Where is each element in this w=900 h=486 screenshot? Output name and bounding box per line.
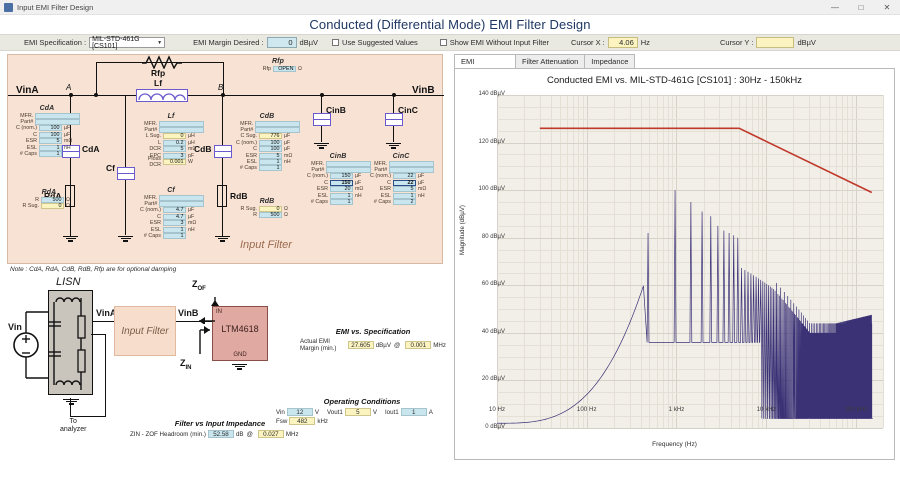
param-unit: mΩ [62, 138, 72, 144]
param-name: ESR [366, 186, 393, 192]
param-row: ESR5mΩ [12, 138, 82, 144]
tab-filter-attenuation[interactable]: Filter Attenuation [515, 54, 585, 68]
lisn-internals [48, 290, 93, 395]
right-panel: EMIFilter AttenuationImpedance Conducted… [450, 51, 900, 486]
param-name: ESL [303, 193, 330, 199]
param-value-input[interactable]: 5 [163, 146, 186, 152]
y-axis-tick: 120 dBµV [445, 139, 505, 145]
param-row: Part# [136, 127, 206, 133]
param-value-input[interactable]: 20 [330, 186, 353, 192]
emi-margin-row: Actual EMI Margin (min.) 27.605 dBµV @ 0… [300, 338, 446, 352]
param-value-input[interactable]: 1 [39, 145, 62, 151]
param-row: # Caps2 [366, 199, 436, 205]
rfp-rows: RfpOPENΩ [246, 66, 310, 72]
wire-cinb-bottom [321, 126, 322, 142]
param-value-input[interactable]: 500 [41, 197, 64, 203]
param-value-input[interactable] [326, 167, 371, 173]
cdb-table-title: CdB [232, 113, 302, 120]
rfp-table-title: Rfp [246, 58, 310, 65]
param-value-input[interactable]: 5 [39, 138, 62, 144]
param-name: R Sug. [232, 206, 259, 212]
param-name: ESR [303, 186, 330, 192]
param-row: ESR3mΩ [136, 220, 206, 226]
param-name: # Caps [136, 233, 163, 239]
param-name: ESL [232, 159, 259, 165]
lf-label: Lf [154, 78, 162, 88]
param-name: Ploss DCR [136, 156, 163, 168]
param-unit: Ω [282, 212, 288, 218]
vin-field-label: Vin [276, 409, 285, 416]
param-value-input[interactable]: 0.2 [163, 140, 186, 146]
emi-spec-label: EMI Specification : [24, 38, 86, 47]
param-value-input[interactable]: 22 [393, 180, 416, 186]
tab-emi[interactable]: EMI [454, 54, 516, 68]
param-name: # Caps [12, 151, 39, 157]
toolbar: EMI Specification : MIL-STD-461G [CS101]… [0, 34, 900, 51]
cf-capacitor-symbol [117, 167, 135, 180]
cdb-param-table[interactable]: CdB MFR.Part#C Sug.776µFC (nom.)100µFC10… [232, 113, 302, 172]
param-unit: µF [62, 125, 70, 131]
y-axis-tick: 80 dBµV [445, 234, 505, 240]
cinb-rows: MFR.Part#C (nom.)150µFC150µFESR20mΩESL1n… [303, 161, 373, 206]
param-name: L [136, 140, 163, 146]
param-value-input[interactable]: 1 [259, 165, 282, 171]
param-row: MFR. [12, 113, 82, 119]
param-value-input[interactable]: 3 [163, 220, 186, 226]
param-row: Part# [366, 167, 436, 173]
rfp-label: Rfp [151, 68, 165, 78]
cda-symbol-label: CdA [82, 144, 99, 154]
node-dot [94, 93, 98, 97]
param-value-input[interactable]: 0 [163, 133, 186, 139]
param-row: R500Ω [232, 212, 302, 218]
rda-param-table[interactable]: RdA R500ΩR Sug.0Ω [14, 189, 84, 209]
param-row: ESR5mΩ [232, 152, 302, 158]
param-value-input[interactable] [159, 121, 204, 127]
param-row: Part# [12, 119, 82, 125]
param-value-input[interactable] [326, 161, 371, 167]
cda-table-title: CdA [12, 105, 82, 112]
window-titlebar: Input EMI Filter Design — □ ✕ [0, 0, 900, 15]
y-axis-tick: 20 dBµV [445, 376, 505, 382]
wire-cdb-vertical [222, 95, 223, 179]
emi-margin-input[interactable]: 0 [267, 37, 297, 48]
zin-arrow-icon [190, 322, 212, 356]
ltm4618-ic-block[interactable]: IN LTM4618 GND [212, 306, 268, 361]
emi-margin-unit: dBµV [300, 38, 319, 47]
param-name: Part# [232, 127, 255, 133]
ground-symbol [386, 142, 401, 150]
param-value-input[interactable]: 776 [259, 133, 282, 139]
param-value-input[interactable]: 100 [259, 140, 282, 146]
x-axis-tick: 10 kHz [757, 406, 776, 413]
param-unit: µF [282, 133, 290, 139]
ic-part-label: LTM4618 [213, 324, 267, 334]
y-axis-tick: 60 dBµV [445, 281, 505, 287]
param-name: ESL [136, 227, 163, 233]
page-title: Conducted (Differential Mode) EMI Filter… [309, 17, 590, 32]
param-value-input[interactable]: 4.7 [163, 207, 186, 213]
gridline-v [883, 95, 884, 428]
param-name: L Sug. [136, 133, 163, 139]
iout-field-unit: A [429, 409, 433, 416]
chart-series-layer [497, 95, 883, 428]
wire-analyzer-vertical [105, 334, 106, 416]
param-value-input[interactable]: 22 [393, 173, 416, 179]
ground-symbol [215, 235, 230, 243]
param-value-input[interactable]: 500 [259, 212, 282, 218]
param-name: MFR. [12, 113, 35, 119]
cursor-x-input[interactable]: 4.06 [608, 37, 638, 48]
lf-inductor-symbol [136, 89, 188, 102]
param-unit: Ω [296, 66, 302, 72]
damping-note: Note : CdA, RdA, CdB, RdB, Rfp are for o… [10, 266, 176, 273]
param-name: C [136, 214, 163, 220]
param-unit: nH [186, 227, 195, 233]
emi-margin-freq-value: 0.001 [405, 341, 431, 349]
wire-cf-bottom [125, 180, 126, 235]
input-filter-caption: Input Filter [240, 239, 292, 251]
param-name: C (nom.) [12, 125, 39, 131]
param-name: ESR [232, 153, 259, 159]
cinb-param-table[interactable]: CinB MFR.Part#C (nom.)150µFC150µFESR20mΩ… [303, 153, 373, 205]
vout-field-value[interactable]: 5 [345, 408, 371, 416]
x-axis-tick: 100 Hz [577, 406, 597, 413]
chart-plot-area[interactable] [497, 95, 883, 428]
operating-conditions-title: Operating Conditions [276, 397, 448, 406]
param-name: R Sug. [14, 203, 41, 209]
param-name: Part# [366, 167, 389, 173]
param-value-input[interactable]: 1 [39, 151, 62, 157]
rdb-rows: R Sug.0ΩR500Ω [232, 206, 302, 219]
y-axis-tick: 100 dBµV [445, 186, 505, 192]
param-value-input[interactable]: 150 [330, 173, 353, 179]
y-axis-tick: 40 dBµV [445, 329, 505, 335]
param-value-input[interactable]: 150 [330, 180, 353, 186]
maximize-icon[interactable]: □ [848, 0, 874, 15]
mil-std-limit-line [540, 128, 872, 192]
param-row: MFR. [136, 195, 206, 201]
param-row: # Caps1 [232, 165, 302, 171]
param-value-input[interactable]: 1 [330, 193, 353, 199]
param-row: MFR. [303, 161, 373, 167]
tab-impedance[interactable]: Impedance [584, 54, 635, 68]
emi-margin-result-value: 27.605 [348, 341, 374, 349]
param-name: R [232, 212, 259, 218]
x-axis-tick: 10 Hz [489, 406, 505, 413]
param-unit: Ω [64, 203, 70, 209]
rda-table-title: RdA [14, 189, 84, 196]
param-row: RfpOPENΩ [246, 66, 310, 72]
param-row: ESR5mΩ [366, 186, 436, 192]
param-unit: µF [416, 173, 424, 179]
use-suggested-values-checkbox[interactable]: Use Suggested Values [332, 38, 418, 47]
param-value-input[interactable] [389, 161, 434, 167]
app-icon [4, 3, 13, 12]
gridline-h [497, 428, 883, 429]
cf-table-title: Cf [136, 187, 206, 194]
param-name: MFR. [366, 161, 389, 167]
param-unit: mΩ [282, 153, 292, 159]
show-emi-without-filter-checkbox[interactable]: Show EMI Without Input Filter [440, 38, 549, 47]
param-name: C Sug. [232, 133, 259, 139]
emi-margin-label: EMI Margin Desired : [193, 38, 263, 47]
param-value-input[interactable]: 100 [259, 146, 282, 152]
param-unit: µH [186, 133, 195, 139]
param-value-input[interactable]: 0 [41, 203, 64, 209]
param-row: MFR. [136, 121, 206, 127]
param-name: C (nom.) [303, 173, 330, 179]
ic-gnd-pin-label: GND [213, 352, 267, 358]
param-unit: mΩ [353, 186, 363, 192]
param-unit: mΩ [186, 146, 196, 152]
zof-arrow-icon [191, 296, 219, 324]
param-row: MFR. [366, 161, 436, 167]
wire-cf-vertical [125, 95, 126, 173]
vin-source-symbol [13, 308, 49, 382]
rdb-table-title: RdB [232, 198, 302, 205]
param-value-input[interactable]: 100 [39, 132, 62, 138]
param-unit: mΩ [186, 220, 196, 226]
param-name: C [303, 180, 330, 186]
node-b-label: B [218, 83, 223, 92]
operating-row-1: Vin 12 V Vout1 5 V Iout1 1 A [276, 408, 448, 416]
rdb-param-table[interactable]: RdB R Sug.0ΩR500Ω [232, 198, 302, 218]
param-row: # Caps1 [12, 151, 82, 157]
lf-param-table[interactable]: Lf MFR.Part#L Sug.0µHL0.2µHDCR5mΩEPC3pFP… [136, 113, 206, 165]
param-unit: µF [353, 180, 361, 186]
param-row: MFR. [232, 121, 302, 127]
param-unit: nH [416, 193, 425, 199]
net-vinb-label: VinB [412, 85, 435, 96]
x-axis-tick: 100 kHz [845, 406, 868, 413]
param-name: C [366, 180, 393, 186]
zin-zof-unit: dB [236, 431, 244, 438]
param-value-input[interactable]: OPEN [273, 66, 296, 72]
param-row: # Caps1 [136, 233, 206, 239]
net-vina-label: VinA [16, 85, 39, 96]
vin-label: Vin [8, 322, 22, 332]
filter-schematic[interactable]: Rfp Lf VinA VinB A B CdA [7, 54, 443, 264]
param-name: # Caps [366, 199, 393, 205]
rfp-param-table[interactable]: Rfp RfpOPENΩ [246, 58, 310, 72]
node-a-label: A [66, 83, 71, 92]
param-unit: nH [282, 159, 291, 165]
vout-field-label: Vout1 [327, 409, 343, 416]
cinc-table-title: CinC [366, 153, 436, 160]
param-unit: µF [353, 173, 361, 179]
cinb-table-title: CinB [303, 153, 373, 160]
wire-top-rail [8, 95, 444, 96]
wire-rfp-left [96, 62, 97, 96]
param-value-input[interactable]: 3 [163, 153, 186, 159]
chart-container[interactable]: Conducted EMI vs. MIL-STD-461G [CS101] :… [454, 68, 895, 460]
cdb-rows: MFR.Part#C Sug.776µFC (nom.)100µFC100µFE… [232, 121, 302, 172]
param-unit: nH [353, 193, 362, 199]
cf-rows: MFR.Part#C (nom.)4.7µFC4.7µFESR3mΩESL1nH… [136, 195, 206, 240]
zin-zof-freq-value: 0.027 [258, 430, 284, 438]
window-controls: — □ ✕ [822, 0, 900, 15]
param-name: C [12, 132, 39, 138]
cdb-capacitor-symbol [214, 145, 232, 158]
param-name: # Caps [303, 199, 330, 205]
ground-symbol [63, 235, 78, 243]
param-unit: Ω [282, 206, 288, 212]
chart-title: Conducted EMI vs. MIL-STD-461G [CS101] :… [455, 69, 894, 86]
emi-margin-result-label: Actual EMI Margin (min.) [300, 338, 346, 352]
param-unit: µF [282, 146, 290, 152]
param-unit: nH [62, 145, 71, 151]
param-unit: µF [416, 180, 424, 186]
vout-field-unit: V [373, 409, 377, 416]
y-axis-tick: 140 dBµV [445, 91, 505, 97]
y-axis-tick: 0 dBµV [445, 424, 505, 430]
param-value-input[interactable]: 2 [393, 199, 416, 205]
chevron-down-icon: ▼ [157, 40, 162, 46]
param-row: ESR20mΩ [303, 186, 373, 192]
param-name: DCR [136, 146, 163, 152]
fsw-field-unit: kHz [317, 418, 328, 425]
chart-tabs: EMIFilter AttenuationImpedance [454, 54, 896, 68]
x-axis-tick: 1 kHz [669, 406, 685, 413]
emi-vs-spec-panel: EMI vs. Specification Actual EMI Margin … [300, 327, 446, 352]
param-row: R Sug.0Ω [14, 203, 84, 209]
param-value-input[interactable]: 1 [259, 159, 282, 165]
param-value-input[interactable] [35, 119, 80, 125]
param-name: ESL [366, 193, 393, 199]
rda-rows: R500ΩR Sug.0Ω [14, 197, 84, 210]
checkbox-icon [332, 39, 339, 46]
vin-field-value[interactable]: 12 [287, 408, 313, 416]
close-icon[interactable]: ✕ [874, 0, 900, 15]
cursor-y-unit: dBµV [797, 38, 816, 47]
param-name: # Caps [232, 165, 259, 171]
zof-label: ZOF [192, 279, 206, 292]
param-value-input[interactable] [255, 127, 300, 133]
emi-margin-result-unit: dBµV [376, 342, 391, 349]
param-value-input[interactable]: 1 [330, 199, 353, 205]
chart-x-axis-label: Frequency (Hz) [455, 441, 894, 448]
param-name: ESR [12, 138, 39, 144]
param-value-input[interactable]: 1 [163, 233, 186, 239]
param-value-input[interactable]: 0.001 [163, 159, 186, 165]
param-unit: pF [186, 153, 194, 159]
param-value-input[interactable] [389, 167, 434, 173]
param-unit: µF [186, 214, 194, 220]
use-suggested-values-label: Use Suggested Values [342, 38, 418, 47]
param-value-input[interactable] [255, 121, 300, 127]
input-filter-block[interactable]: Input Filter [114, 306, 176, 356]
param-value-input[interactable]: 5 [393, 186, 416, 192]
param-name: ESL [12, 145, 39, 151]
param-row: DCR5mΩ [136, 146, 206, 152]
cinc-param-table[interactable]: CinC MFR.Part#C (nom.)22µFC22µFESR5mΩESL… [366, 153, 436, 205]
vin-field-unit: V [315, 409, 319, 416]
main-content: Rfp Lf VinA VinB A B CdA [0, 51, 900, 486]
param-value-input[interactable]: 1 [163, 227, 186, 233]
param-row: Part# [303, 167, 373, 173]
cursor-y-input[interactable] [756, 37, 794, 48]
param-name: Rfp [246, 66, 273, 72]
ground-symbol [314, 142, 329, 150]
param-value-input[interactable] [159, 195, 204, 201]
emi-spec-select[interactable]: MIL-STD-461G [CS101] ▼ [89, 37, 165, 48]
emi-spec-value: MIL-STD-461G [CS101] [92, 36, 164, 50]
param-unit: µF [282, 140, 290, 146]
param-value-input[interactable]: 4.7 [163, 214, 186, 220]
param-value-input[interactable] [35, 113, 80, 119]
param-name: MFR. [303, 161, 326, 167]
param-name: Part# [136, 127, 159, 133]
param-name: Part# [12, 119, 35, 125]
cda-param-table[interactable]: CdA MFR.Part#C (nom.)100µFC100µFESR5mΩES… [12, 105, 82, 157]
iout-field-label: Iout1 [385, 409, 399, 416]
zin-zof-row: ZIN - ZOF Headroom (min.) 52.58 dB @ 0.0… [130, 430, 310, 438]
cursor-x-unit: Hz [641, 38, 650, 47]
cinb-symbol-label: CinB [326, 105, 346, 115]
param-unit: µF [62, 132, 70, 138]
param-name: C (nom.) [232, 140, 259, 146]
cinc-rows: MFR.Part#C (nom.)22µFC22µFESR5mΩESL1nH# … [366, 161, 436, 206]
param-unit: mΩ [416, 186, 426, 192]
param-name: ESR [136, 220, 163, 226]
param-value-input[interactable] [159, 127, 204, 133]
param-unit: W [186, 159, 193, 165]
param-value-input[interactable]: 100 [39, 125, 62, 131]
wire-rdb-vertical [222, 177, 223, 237]
wire-analyzer-gnd [70, 398, 71, 417]
param-name: Part# [303, 167, 326, 173]
param-value-input[interactable]: 1 [393, 193, 416, 199]
param-unit: µF [186, 207, 194, 213]
cinc-symbol-label: CinC [398, 105, 418, 115]
ground-symbol [118, 235, 133, 243]
cf-param-table[interactable]: Cf MFR.Part#C (nom.)4.7µFC4.7µFESR3mΩESL… [136, 187, 206, 239]
cursor-x-label: Cursor X : [571, 38, 605, 47]
zin-zof-label: ZIN - ZOF Headroom (min.) [130, 431, 206, 438]
app-header: Conducted (Differential Mode) EMI Filter… [0, 15, 900, 34]
iout-field-value[interactable]: 1 [401, 408, 427, 416]
zin-zof-freq-unit: MHz [286, 431, 299, 438]
cursor-y-label: Cursor Y : [720, 38, 754, 47]
lisn-label: LISN [56, 276, 80, 288]
at-symbol: @ [247, 431, 253, 438]
param-name: Part# [136, 201, 159, 207]
lf-table-title: Lf [136, 113, 206, 120]
param-name: MFR. [232, 121, 255, 127]
param-name: C (nom.) [366, 173, 393, 179]
filter-vs-impedance-panel: Filter vs Input Impedance ZIN - ZOF Head… [130, 419, 310, 438]
param-name: C (nom.) [136, 207, 163, 213]
emi-spectrum-trace [497, 190, 873, 423]
chart-y-axis-label: Magnitude (dBµV) [459, 205, 466, 255]
cda-rows: MFR.Part#C (nom.)100µFC100µFESR5mΩESL1nH… [12, 113, 82, 158]
param-value-input[interactable]: 0 [259, 206, 282, 212]
at-symbol: @ [394, 342, 400, 349]
checkbox-icon [440, 39, 447, 46]
minimize-icon[interactable]: — [822, 0, 848, 15]
cf-symbol-label: Cf [106, 163, 115, 173]
param-unit: µH [186, 140, 195, 146]
param-row: # Caps1 [303, 199, 373, 205]
param-unit: Ω [64, 197, 70, 203]
param-value-input[interactable]: 5 [259, 153, 282, 159]
param-name: R [14, 197, 41, 203]
lf-rows: MFR.Part#L Sug.0µHL0.2µHDCR5mΩEPC3pFPlos… [136, 121, 206, 166]
param-value-input[interactable] [159, 201, 204, 207]
wire-analyzer-top [91, 334, 106, 335]
param-name: C [232, 146, 259, 152]
